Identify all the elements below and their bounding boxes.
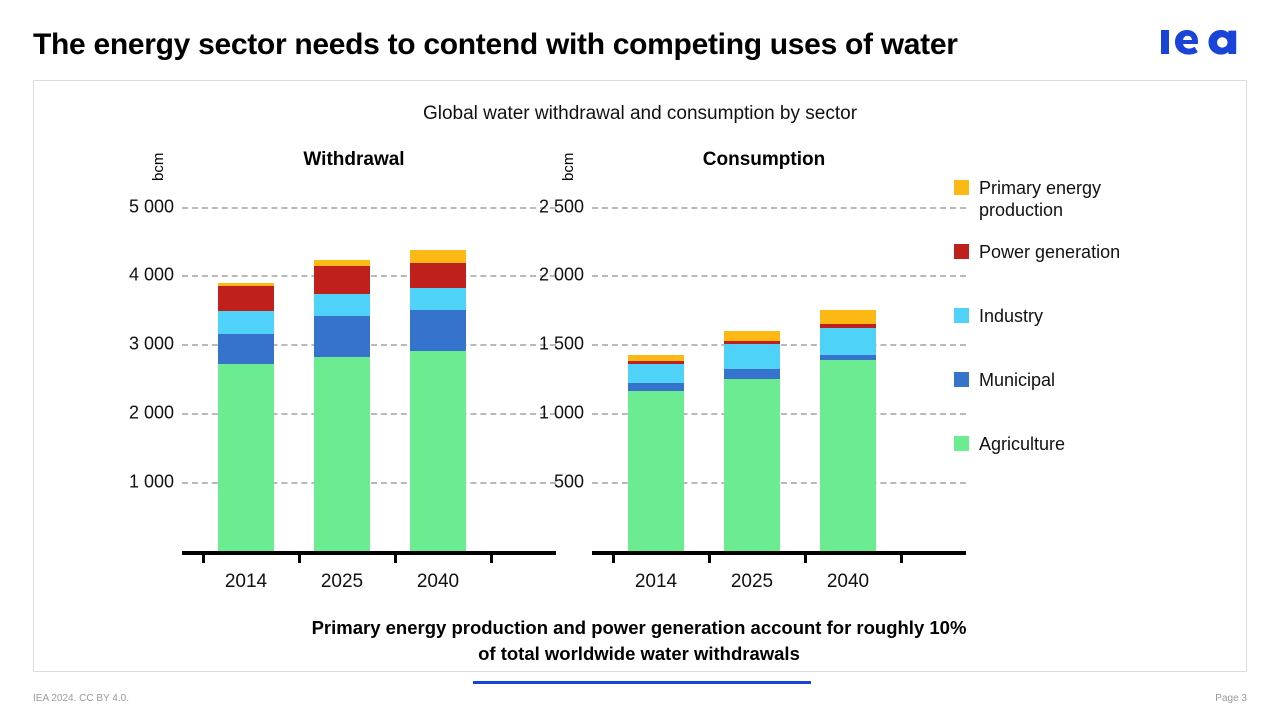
chart-consumption-plot: 2 5002 0001 5001 000500 201420252040 [592, 179, 966, 551]
chart-withdrawal-yaxis-unit: bcm [150, 153, 167, 181]
bar-2040[interactable] [410, 250, 466, 551]
bar-segment-industry[interactable] [410, 288, 466, 310]
legend-swatch-icon [954, 180, 969, 195]
x-axis-tick [394, 554, 397, 563]
legend-item-label: Agriculture [979, 433, 1179, 455]
bar-segment-power-generation[interactable] [628, 361, 684, 365]
y-axis-tick-label: 2 000 [539, 265, 584, 286]
y-axis-tick-label: 3 000 [129, 334, 174, 355]
chart-withdrawal-axis-line [182, 551, 556, 555]
bar-segment-municipal[interactable] [628, 383, 684, 391]
bar-segment-municipal[interactable] [314, 316, 370, 357]
y-axis-tick-label: 500 [554, 472, 584, 493]
legend-swatch-icon [954, 244, 969, 259]
bar-segment-primary-energy-production[interactable] [724, 331, 780, 340]
x-axis-category-label: 2025 [712, 571, 792, 593]
bar-segment-power-generation[interactable] [724, 341, 780, 345]
chart-caption: Primary energy production and power gene… [174, 615, 1104, 667]
bar-segment-agriculture[interactable] [218, 364, 274, 551]
chart-withdrawal-plot: 5 0004 0003 0002 0001 000 201420252040 [182, 179, 556, 551]
x-axis-category-label: 2040 [808, 571, 888, 593]
bar-segment-industry[interactable] [218, 311, 274, 334]
figure-title: Global water withdrawal and consumption … [34, 103, 1246, 125]
legend-swatch-icon [954, 308, 969, 323]
caption-line-2: of total worldwide water withdrawals [478, 643, 800, 664]
bar-2014[interactable] [628, 355, 684, 551]
bar-segment-primary-energy-production[interactable] [314, 260, 370, 266]
bar-segment-municipal[interactable] [410, 310, 466, 351]
iea-logo [1161, 25, 1247, 59]
y-axis-tick-label: 4 000 [129, 265, 174, 286]
legend-item-label: Power generation [979, 241, 1179, 263]
page-title: The energy sector needs to contend with … [33, 26, 1123, 64]
slide-root: The energy sector needs to contend with … [0, 0, 1280, 720]
chart-withdrawal-bars: 201420252040 [182, 179, 556, 551]
bar-segment-primary-energy-production[interactable] [410, 250, 466, 264]
y-axis-tick-label: 1 500 [539, 334, 584, 355]
bar-segment-agriculture[interactable] [628, 391, 684, 551]
chart-panel: Global water withdrawal and consumption … [33, 80, 1247, 672]
bar-segment-power-generation[interactable] [820, 324, 876, 328]
bar-segment-industry[interactable] [314, 294, 370, 316]
x-axis-category-label: 2014 [616, 571, 696, 593]
bar-segment-agriculture[interactable] [410, 351, 466, 551]
bar-2014[interactable] [218, 283, 274, 551]
legend-item-label: Municipal [979, 369, 1179, 391]
caption-line-1: Primary energy production and power gene… [312, 617, 967, 638]
chart-withdrawal-title: Withdrawal [144, 149, 564, 171]
legend-swatch-icon [954, 436, 969, 451]
chart-withdrawal: Withdrawal bcm 5 0004 0003 0002 0001 000… [144, 149, 564, 579]
bar-segment-power-generation[interactable] [218, 286, 274, 310]
y-axis-tick-label: 1 000 [129, 472, 174, 493]
slide-progress-bar [0, 681, 1280, 684]
x-axis-tick [612, 554, 615, 563]
bar-segment-agriculture[interactable] [314, 357, 370, 551]
bar-2040[interactable] [820, 310, 876, 551]
chart-consumption-yaxis-unit: bcm [560, 153, 577, 181]
legend-item-municipal[interactable]: Municipal [954, 369, 1179, 391]
bar-segment-municipal[interactable] [218, 334, 274, 364]
legend-item-agriculture[interactable]: Agriculture [954, 433, 1179, 455]
footer-copyright: IEA 2024. CC BY 4.0. [33, 693, 129, 704]
bar-2025[interactable] [724, 331, 780, 551]
chart-consumption-title: Consumption [554, 149, 974, 171]
bar-segment-municipal[interactable] [724, 369, 780, 379]
chart-consumption: Consumption bcm 2 5002 0001 5001 000500 … [554, 149, 974, 579]
legend-item-primary-energy-production[interactable]: Primary energy production [954, 177, 1179, 221]
x-axis-category-label: 2014 [206, 571, 286, 593]
x-axis-tick [298, 554, 301, 563]
chart-consumption-axis-line [592, 551, 966, 555]
y-axis-tick-label: 2 000 [129, 403, 174, 424]
bar-segment-agriculture[interactable] [724, 379, 780, 551]
bar-segment-industry[interactable] [628, 364, 684, 383]
bar-segment-primary-energy-production[interactable] [218, 283, 274, 287]
legend-item-label: Primary energy production [979, 177, 1179, 221]
bar-segment-industry[interactable] [820, 328, 876, 355]
y-axis-tick-label: 1 000 [539, 403, 584, 424]
x-axis-category-label: 2040 [398, 571, 478, 593]
y-axis-tick-label: 5 000 [129, 196, 174, 217]
bar-2025[interactable] [314, 260, 370, 551]
legend-item-industry[interactable]: Industry [954, 305, 1179, 327]
x-axis-category-label: 2025 [302, 571, 382, 593]
x-axis-tick [804, 554, 807, 563]
bar-segment-primary-energy-production[interactable] [628, 355, 684, 361]
legend-swatch-icon [954, 372, 969, 387]
y-axis-tick-label: 2 500 [539, 196, 584, 217]
bar-segment-industry[interactable] [724, 344, 780, 369]
legend-item-power-generation[interactable]: Power generation [954, 241, 1179, 263]
x-axis-tick [202, 554, 205, 563]
bar-segment-agriculture[interactable] [820, 360, 876, 551]
bar-segment-municipal[interactable] [820, 355, 876, 361]
slide-progress-fill [473, 681, 811, 684]
bar-segment-primary-energy-production[interactable] [820, 310, 876, 324]
chart-consumption-bars: 201420252040 [592, 179, 966, 551]
bar-segment-power-generation[interactable] [314, 266, 370, 294]
x-axis-tick [490, 554, 493, 563]
x-axis-tick [900, 554, 903, 563]
bar-segment-power-generation[interactable] [410, 263, 466, 287]
legend-item-label: Industry [979, 305, 1179, 327]
footer-page-number: Page 3 [1215, 693, 1247, 704]
x-axis-tick [708, 554, 711, 563]
